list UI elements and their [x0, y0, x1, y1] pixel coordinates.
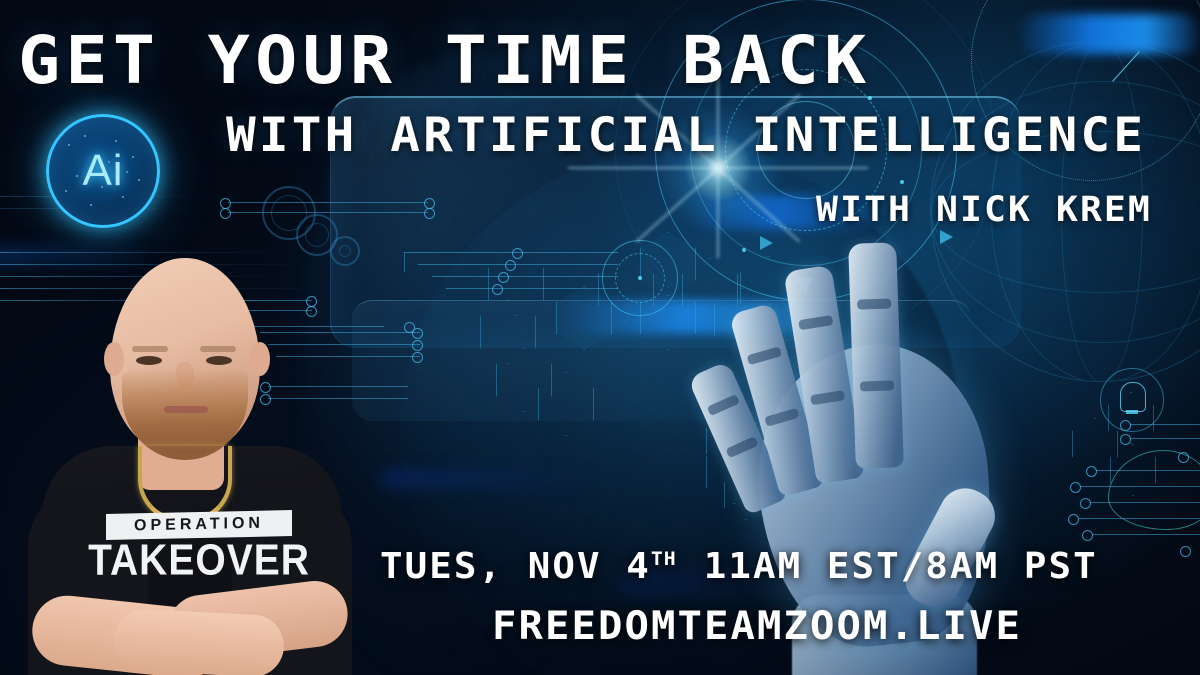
robot-hand-icon	[700, 195, 1120, 675]
speaker-photo: OPERATION TAKEOVER	[18, 250, 356, 675]
event-day: TUES, NOV 4	[380, 546, 651, 587]
event-time: 11AM EST/8AM PST	[704, 546, 1098, 587]
event-datetime: TUES, NOV 4TH11AM EST/8AM PST	[380, 546, 1098, 587]
headline-line-1: GET YOUR TIME BACK	[18, 22, 872, 99]
ai-badge: Ai	[46, 114, 160, 228]
shirt-text-takeover: TAKEOVER	[86, 538, 312, 584]
glow-bar-lower-left	[380, 468, 590, 490]
glow-bar-top-right	[1020, 14, 1200, 54]
event-url[interactable]: FREEDOMTEAMZOOM.LIVE	[492, 604, 1022, 649]
lightbulb-icon	[1100, 368, 1164, 432]
ai-badge-label: Ai	[82, 146, 123, 196]
brain-network-icon	[1108, 450, 1200, 530]
headline-line-2: WITH ARTIFICIAL INTELLIGENCE	[226, 108, 1146, 163]
event-day-suffix: TH	[651, 548, 677, 570]
speaker-line: WITH NICK KREM	[816, 190, 1152, 230]
promo-poster: Ai OPERATION TAKEOVER GET YOUR TIME BACK…	[0, 0, 1200, 675]
